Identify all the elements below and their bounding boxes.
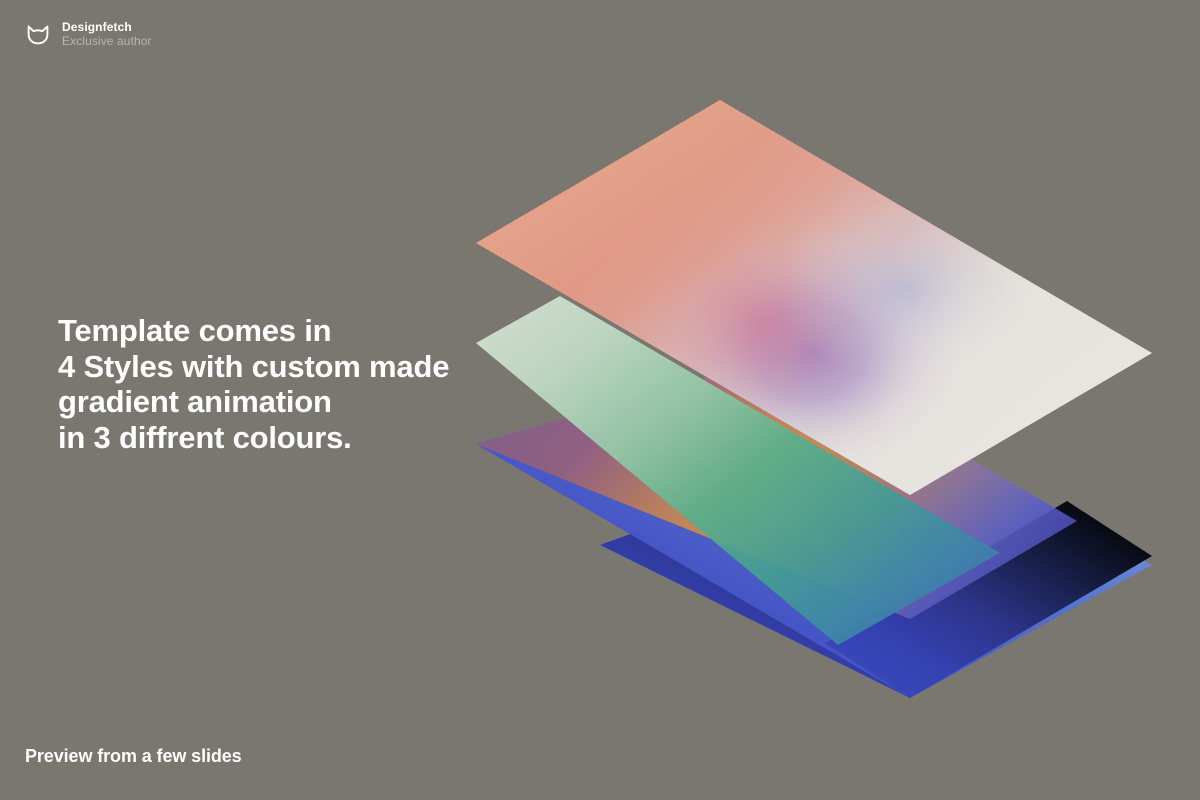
slide-layer-blue-cobalt bbox=[476, 353, 1152, 698]
slide-layer-blue-upper bbox=[476, 353, 1152, 698]
slide-layer-purple-orange bbox=[476, 353, 1077, 619]
slide-layer-blue-black bbox=[475, 396, 1152, 698]
pink-bloom bbox=[642, 224, 878, 420]
amber-bloom bbox=[625, 423, 925, 607]
blue-haze bbox=[775, 196, 1035, 380]
slide-layer-peach-white bbox=[476, 100, 1152, 495]
preview-caption: Preview from a few slides bbox=[25, 746, 242, 767]
violet-bloom bbox=[662, 230, 962, 474]
headline-text: Template comes in 4 Styles with custom m… bbox=[58, 313, 558, 455]
brand-lockup: Designfetch Exclusive author bbox=[24, 20, 152, 48]
brand-name: Designfetch bbox=[62, 20, 152, 34]
preview-canvas: Designfetch Exclusive author Template co… bbox=[0, 0, 1200, 800]
brand-text-block: Designfetch Exclusive author bbox=[62, 20, 152, 48]
cat-head-outline-icon bbox=[24, 20, 52, 48]
brand-subtitle: Exclusive author bbox=[62, 34, 152, 48]
